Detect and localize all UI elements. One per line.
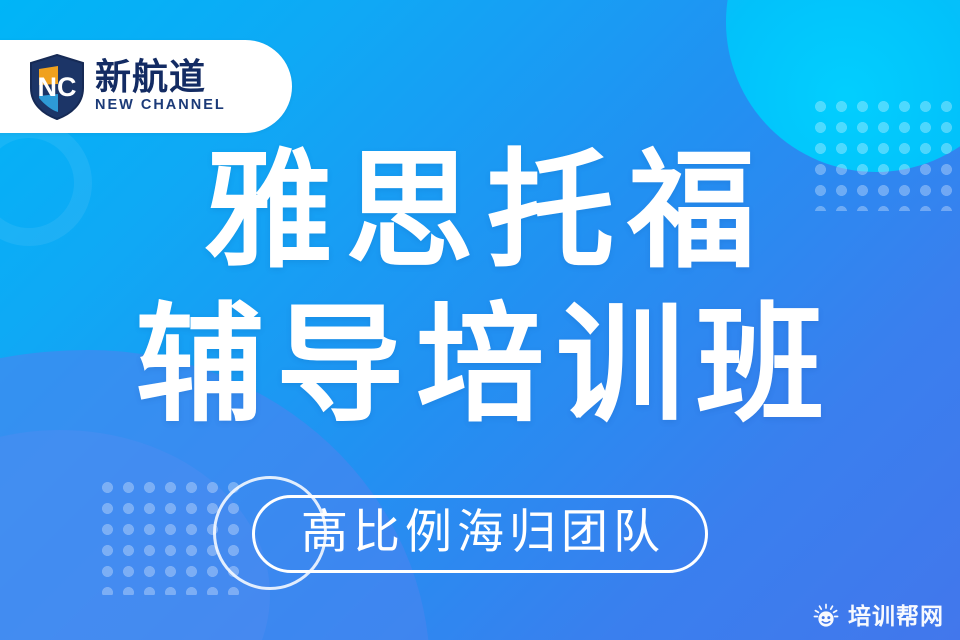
- brand-logo-lockup: NC 新航道 NEW CHANNEL: [28, 54, 226, 120]
- brand-wordmark: 新航道 NEW CHANNEL: [95, 59, 226, 115]
- headline-block: 雅思托福 辅导培训班: [0, 148, 960, 430]
- subtitle-block: 高比例海归团队: [0, 495, 960, 573]
- shield-logo-icon: NC: [28, 54, 86, 120]
- watermark-label: 培训帮网: [848, 605, 944, 628]
- headline-line-1: 雅思托福: [0, 148, 960, 276]
- headline-line-2: 辅导培训班: [0, 302, 960, 430]
- sun-face-icon: [813, 603, 839, 629]
- brand-name-cn: 新航道: [95, 59, 226, 96]
- subtitle-pill: 高比例海归团队: [252, 495, 708, 573]
- promo-banner: NC 新航道 NEW CHANNEL 雅思托福 辅导培训班 高比例海归团队: [0, 0, 960, 640]
- brand-logo-pill: NC 新航道 NEW CHANNEL: [0, 40, 292, 133]
- brand-name-en: NEW CHANNEL: [95, 98, 226, 114]
- watermark: 培训帮网: [813, 603, 944, 629]
- svg-text:NC: NC: [38, 72, 77, 102]
